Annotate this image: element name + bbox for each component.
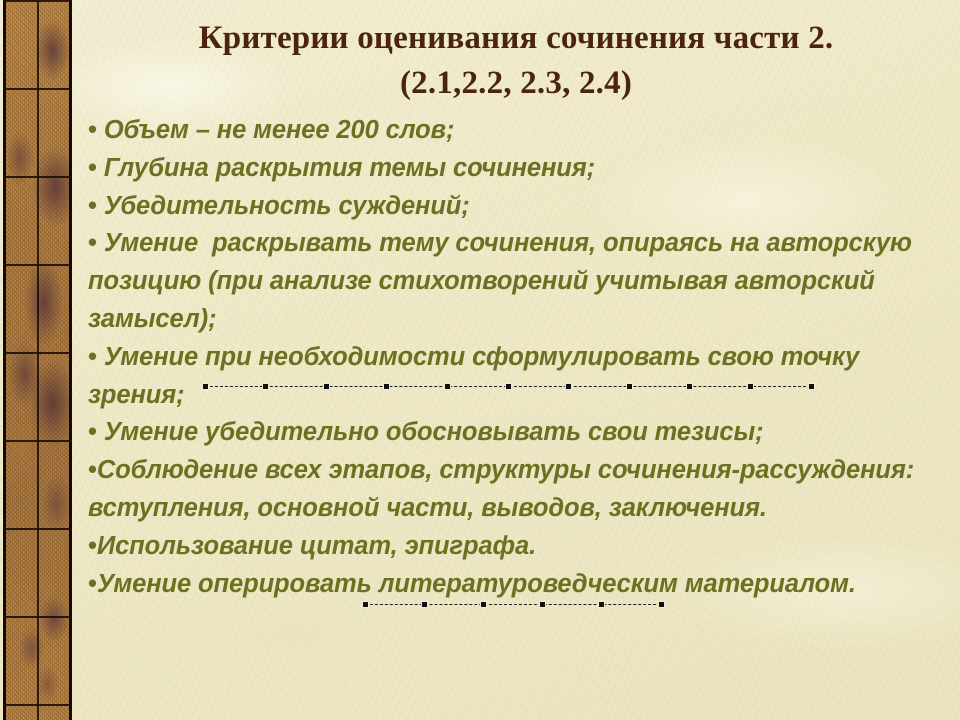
list-item: • Глубина раскрытия темы сочинения;	[88, 150, 950, 188]
slide-canvas: Критерии оценивания сочинения части 2. (…	[0, 0, 960, 720]
placeholder-selection-edge-lower	[365, 604, 661, 605]
list-item-text: Умение раскрывать тему сочинения, опирая…	[88, 229, 919, 333]
list-item-text: Использование цитат, эпиграфа.	[97, 532, 536, 560]
bullet-glyph: •	[88, 343, 97, 371]
list-item: • Убедительность суждений;	[88, 188, 950, 226]
list-item: • Умение убедительно обосновывать свои т…	[88, 414, 950, 452]
bullet-glyph: •	[88, 418, 97, 446]
list-item: • Объем – не менее 200 слов;	[88, 112, 950, 150]
title-line-2: (2.1,2.2, 2.3, 2.4)	[96, 61, 936, 106]
list-item: •Использование цитат, эпиграфа.	[88, 528, 950, 566]
list-item: • Умение раскрывать тему сочинения, опир…	[88, 225, 950, 338]
bullet-glyph: •	[88, 116, 97, 144]
list-item-text: Убедительность суждений;	[97, 192, 470, 220]
list-item: • Умение при необходимости сформулироват…	[88, 339, 950, 415]
list-item-text: Соблюдение всех этапов, структуры сочине…	[88, 456, 921, 522]
bullet-glyph: •	[88, 570, 97, 598]
list-item: •Умение оперировать литературоведческим …	[88, 566, 950, 604]
list-item: •Соблюдение всех этапов, структуры сочин…	[88, 452, 950, 528]
list-item-text: Умение убедительно обосновывать свои тез…	[97, 418, 764, 446]
bullet-glyph: •	[88, 456, 97, 484]
list-item-text: Объем – не менее 200 слов;	[97, 116, 455, 144]
bullet-glyph: •	[88, 154, 97, 182]
bullet-glyph: •	[88, 229, 97, 257]
bullet-glyph: •	[88, 532, 97, 560]
list-item-text: Глубина раскрытия темы сочинения;	[97, 154, 595, 182]
list-item-text: Умение оперировать литературоведческим м…	[97, 570, 856, 598]
bullet-glyph: •	[88, 192, 97, 220]
slide-title: Критерии оценивания сочинения части 2. (…	[96, 16, 936, 106]
decorative-left-border	[3, 0, 72, 720]
title-line-1: Критерии оценивания сочинения части 2.	[96, 16, 936, 61]
list-item-text: Умение при необходимости сформулировать …	[88, 343, 866, 409]
criteria-list: • Объем – не менее 200 слов; • Глубина р…	[88, 112, 950, 603]
